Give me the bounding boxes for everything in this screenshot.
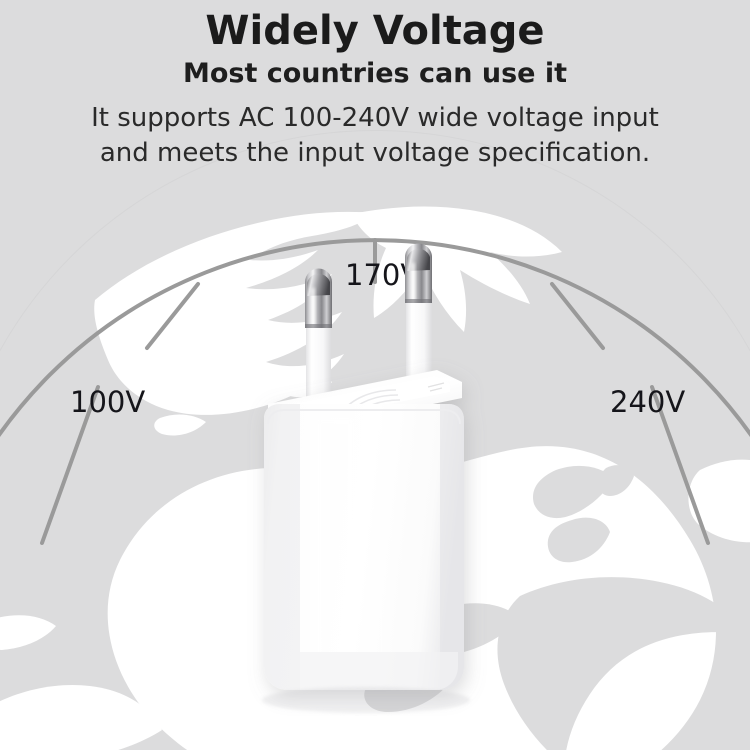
gauge-label-max: 240V [610,385,685,419]
product-feature-banner: 100V 170V 240V [0,0,750,750]
charger-contact-shadow [262,687,470,713]
gauge-tick-4 [552,284,603,348]
charger-pin-left [305,269,332,471]
gauge-label-min: 100V [70,385,145,419]
headline-block: Widely Voltage Most countries can use it… [0,0,750,171]
page-title: Widely Voltage [0,0,750,54]
pin-left-highlight [311,288,315,326]
charger-body-bottom-shade [270,652,458,690]
charger-body [264,370,464,690]
pin-left-collar [305,324,332,328]
pin-right-collar [405,299,432,303]
pin-right-sheath [406,295,432,452]
description-text: It supports AC 100-240V wide voltage inp… [0,89,750,171]
pin-left-tip-shine [307,274,330,296]
description-line-2: and meets the input voltage specificatio… [0,136,750,171]
charger-body-bevel [268,410,460,424]
charger-top-plate [268,370,462,432]
charger-plate-marking-right [428,383,444,391]
gauge-arc-path [0,240,750,700]
charger-body-front [264,404,464,690]
pin-left-sheath [306,318,331,470]
charger-body-right-shade [440,404,464,690]
gauge-tick-2 [147,284,198,348]
gauge-label-mid: 170V [345,258,420,292]
charger-top-texture [340,390,402,420]
globe-landmasses [0,130,750,750]
charger-plate-marking-left [294,413,312,421]
page-subtitle: Most countries can use it [0,54,750,89]
pin-left-metal [305,269,332,329]
charger-body-highlight [318,420,352,674]
charger-top-inset [283,376,450,422]
description-line-1: It supports AC 100-240V wide voltage inp… [0,101,750,136]
charger-body-left-shade [264,404,300,690]
